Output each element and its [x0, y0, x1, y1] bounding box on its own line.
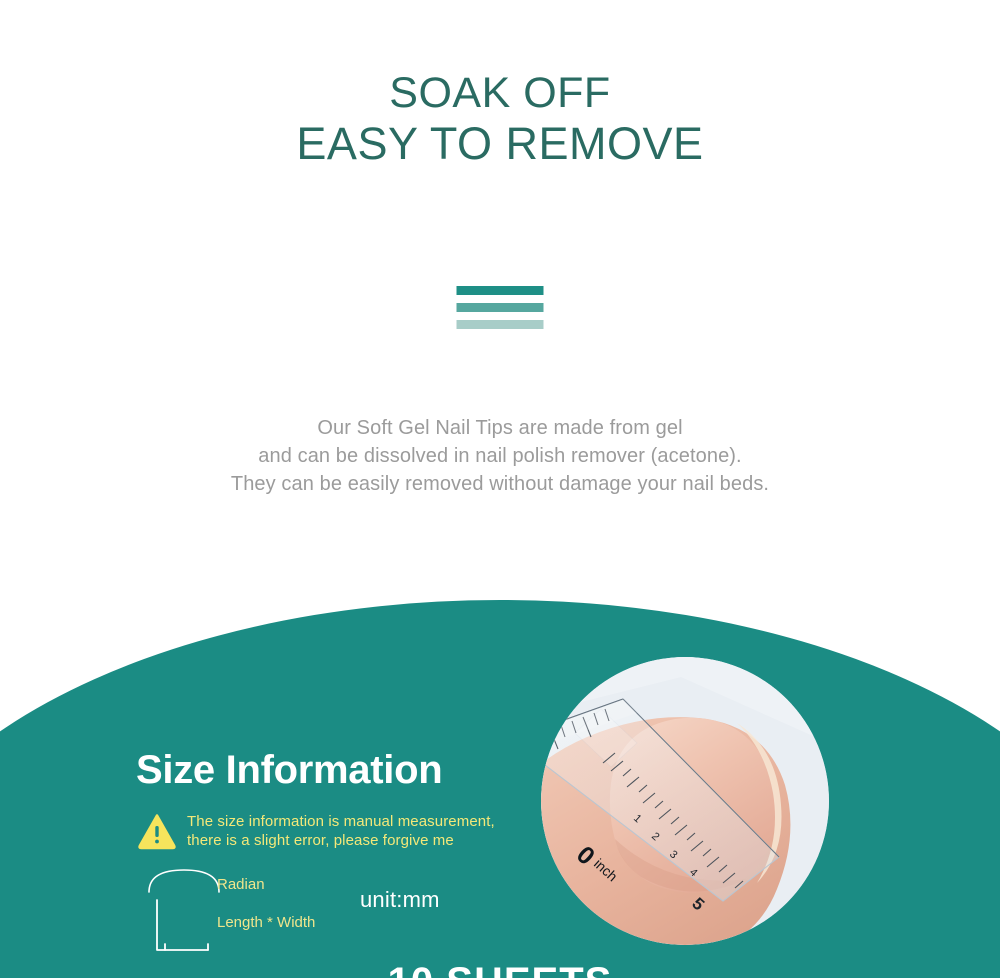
divider-bar-light	[457, 320, 544, 329]
headline-line-2: EASY TO REMOVE	[0, 120, 1000, 169]
bottom-cut-heading: 10 SHEETS	[0, 962, 1000, 978]
size-information-title: Size Information	[136, 748, 442, 793]
divider	[457, 286, 544, 329]
warning-text: The size information is manual measureme…	[187, 812, 495, 850]
warning-text-line-2: there is a slight error, please forgive …	[187, 831, 495, 850]
divider-bar-dark	[457, 286, 544, 295]
warning-triangle-icon	[137, 812, 177, 850]
thumb-with-ruler-photo: 1 2 3 4 5 0 inch	[541, 657, 829, 945]
description-line-3: They can be easily removed without damag…	[0, 470, 1000, 498]
description-line-2: and can be dissolved in nail polish remo…	[0, 442, 1000, 470]
page-title: SOAK OFF EASY TO REMOVE	[0, 70, 1000, 169]
description-paragraph: Our Soft Gel Nail Tips are made from gel…	[0, 414, 1000, 498]
description-line-1: Our Soft Gel Nail Tips are made from gel	[0, 414, 1000, 442]
unit-label: unit:mm	[360, 887, 440, 913]
product-detail-page: SOAK OFF EASY TO REMOVE Our Soft Gel Nai…	[0, 0, 1000, 978]
diagram-label-radian: Radian	[217, 876, 265, 893]
divider-bar-medium	[457, 303, 544, 312]
warning-text-line-1: The size information is manual measureme…	[187, 812, 495, 831]
measurement-warning: The size information is manual measureme…	[137, 812, 495, 850]
headline-line-1: SOAK OFF	[0, 70, 1000, 116]
diagram-label-length-width: Length * Width	[217, 914, 315, 931]
